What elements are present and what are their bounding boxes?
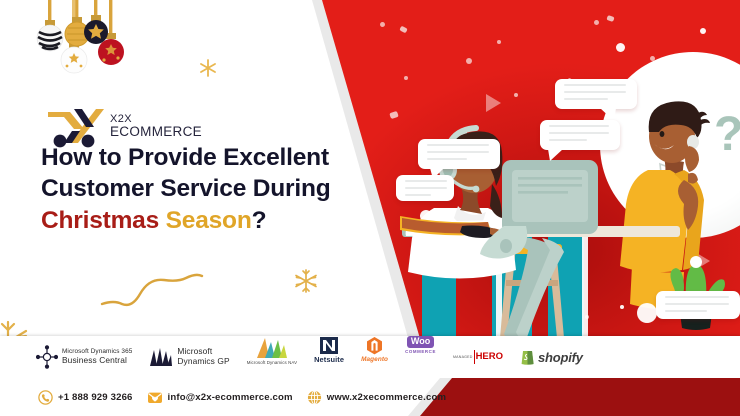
bc-line2: Business Central xyxy=(62,356,132,366)
snowflake-icon xyxy=(198,58,218,78)
chat-bubble xyxy=(540,120,620,150)
confetti-dot xyxy=(380,22,385,27)
business-central-icon xyxy=(36,345,58,369)
contact-website[interactable]: www.x2xecommerce.com xyxy=(307,390,446,405)
gp-line1: Microsoft xyxy=(177,346,212,356)
phone-icon xyxy=(38,390,53,405)
headline-line2: Customer Service During xyxy=(41,173,341,204)
netsuite-label: Netsuite xyxy=(314,355,344,364)
headline-question: ? xyxy=(252,207,267,234)
partner-logo-dynamics-gp[interactable]: Microsoft Dynamics GP xyxy=(149,336,229,378)
snowflake-icon xyxy=(293,268,319,294)
contact-phone[interactable]: +1 888 929 3266 xyxy=(38,390,133,405)
chat-bubble-tail xyxy=(548,149,563,162)
globe-icon xyxy=(307,390,322,405)
headline-line1: How to Provide Excellent xyxy=(41,142,341,173)
partner-logo-managed-hero[interactable]: MANAGED HERO xyxy=(453,336,503,378)
partner-logo-row: Microsoft Dynamics 365 Business Central … xyxy=(36,336,583,378)
partner-logo-shopify[interactable]: shopify xyxy=(520,336,583,378)
shopify-bag-icon xyxy=(520,348,535,366)
hero-managed-label: MANAGED xyxy=(453,355,473,359)
chat-bubble xyxy=(555,79,637,109)
chat-bubble xyxy=(396,175,454,201)
email-text: info@x2x-ecommerce.com xyxy=(168,392,293,403)
woo-sublabel: COMMERCE xyxy=(405,349,436,354)
dynamics-nav-icon xyxy=(255,336,289,360)
partner-logo-strip: Microsoft Dynamics 365 Business Central … xyxy=(0,336,740,378)
magento-icon xyxy=(366,336,383,355)
partner-logo-woocommerce[interactable]: Woo COMMERCE xyxy=(405,336,436,378)
netsuite-icon xyxy=(319,336,339,355)
page-title: How to Provide Excellent Customer Servic… xyxy=(41,142,341,236)
envelope-heart-icon xyxy=(147,390,163,405)
partner-logo-netsuite[interactable]: Netsuite xyxy=(314,336,344,378)
phone-text: +1 888 929 3266 xyxy=(58,392,133,403)
headline-line3: Christmas Season? xyxy=(41,205,341,236)
partner-logo-business-central[interactable]: Microsoft Dynamics 365 Business Central xyxy=(36,336,132,378)
marketing-banner: ? xyxy=(0,0,740,416)
contact-email[interactable]: info@x2x-ecommerce.com xyxy=(147,390,293,405)
chat-bubble xyxy=(656,291,740,319)
gp-line2: Dynamics GP xyxy=(177,357,229,367)
partner-logo-dynamics-nav[interactable]: Microsoft Dynamics NAV xyxy=(247,336,297,378)
chat-bubble xyxy=(418,139,500,169)
christmas-ornaments xyxy=(0,0,150,96)
brand-line2: ECOMMERCE xyxy=(110,125,202,139)
dynamics-gp-icon xyxy=(149,347,173,367)
woo-label: Woo xyxy=(407,336,434,348)
magento-label: Magento xyxy=(361,356,388,363)
contact-info: +1 888 929 3266 info@x2x-ecommerce.com w… xyxy=(38,378,446,416)
chat-bubble-dot xyxy=(637,303,657,323)
shopify-label: shopify xyxy=(538,350,583,365)
wavy-line-icon xyxy=(100,262,210,310)
headline-christmas: Christmas xyxy=(41,207,159,234)
website-text: www.x2xecommerce.com xyxy=(327,392,446,403)
headline-season: Season xyxy=(166,207,252,234)
hero-label: HERO xyxy=(476,352,503,362)
partner-logo-magento[interactable]: Magento xyxy=(361,336,388,378)
nav-label: Microsoft Dynamics NAV xyxy=(247,360,297,365)
confetti-dot xyxy=(700,28,706,34)
confetti-dot xyxy=(594,20,599,25)
question-mark: ? xyxy=(714,108,740,161)
